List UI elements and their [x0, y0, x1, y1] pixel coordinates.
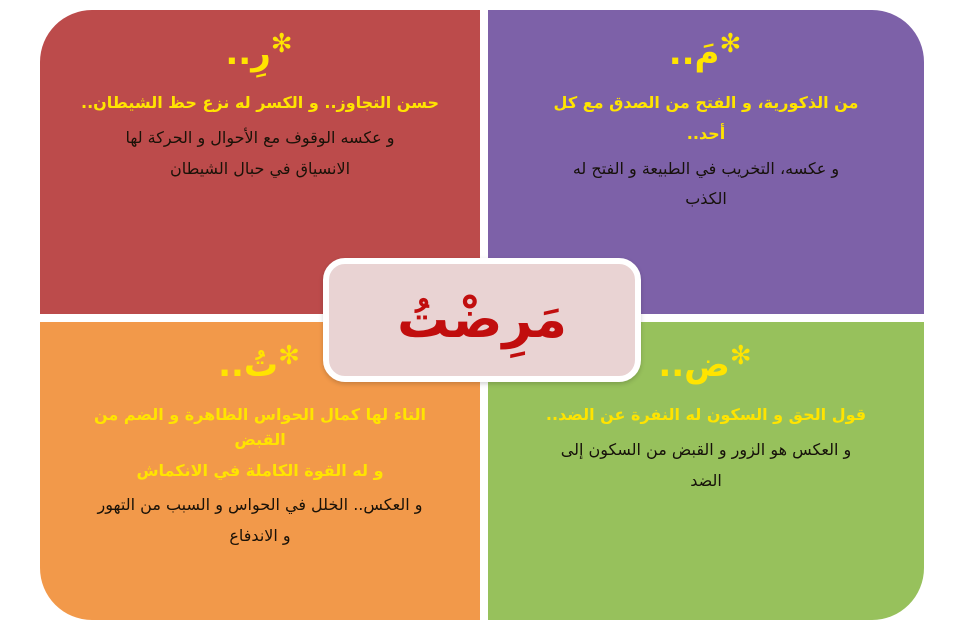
text-line: قول الحق و السكون له النفرة عن الضد..	[514, 403, 898, 428]
quadrant-dad-note: و العكس هو الزور و القبض من السكون إلى ا…	[514, 438, 898, 494]
text-line: و الاندفاع	[66, 524, 454, 549]
quadrant-ra-highlight: حسن التجاوز.. و الكسر له نزع حظ الشيطان.…	[66, 91, 454, 116]
text-line: أحد..	[514, 122, 898, 147]
text-line: حسن التجاوز.. و الكسر له نزع حظ الشيطان.…	[66, 91, 454, 116]
quadrant-dad-letter: ض..	[658, 345, 730, 385]
text-line: و عكسه، التخريب في الطبيعة و الفتح له	[514, 157, 898, 182]
quadrant-ta-letter: تُ..	[218, 345, 278, 385]
quadrant-ra-heading: ✻رِ..	[66, 34, 454, 73]
quadrant-meem-highlight: من الذكورية، و الفتح من الصدق مع كل أحد.…	[514, 91, 898, 147]
quadrant-dad-highlight: قول الحق و السكون له النفرة عن الضد..	[514, 403, 898, 428]
centre-card[interactable]: مَرِضْتُ	[323, 258, 641, 382]
text-line: الكذب	[514, 187, 898, 212]
quadrant-meem-letter: مَ..	[669, 33, 720, 73]
quadrant-meem-heading: ✻مَ..	[514, 34, 898, 73]
quadrant-diagram: ✻رِ.. حسن التجاوز.. و الكسر له نزع حظ ال…	[0, 0, 964, 626]
quadrant-meem-note: و عكسه، التخريب في الطبيعة و الفتح له ال…	[514, 157, 898, 213]
asterisk-icon: ✻	[719, 29, 741, 59]
asterisk-icon: ✻	[730, 341, 752, 371]
text-line: و العكس هو الزور و القبض من السكون إلى	[514, 438, 898, 463]
quadrant-ra-letter: رِ..	[225, 33, 270, 73]
asterisk-icon: ✻	[278, 341, 300, 371]
quadrant-ta-highlight: التاء لها كمال الحواس الظاهرة و الضم من …	[66, 403, 454, 483]
text-line: و عكسه الوقوف مع الأحوال و الحركة لها	[66, 126, 454, 151]
text-line: التاء لها كمال الحواس الظاهرة و الضم من …	[66, 403, 454, 453]
text-line: و العكس.. الخلل في الحواس و السبب من الت…	[66, 493, 454, 518]
text-line: الضد	[514, 469, 898, 494]
quadrant-ta-note: و العكس.. الخلل في الحواس و السبب من الت…	[66, 493, 454, 549]
text-line: من الذكورية، و الفتح من الصدق مع كل	[514, 91, 898, 116]
centre-word: مَرِضْتُ	[397, 294, 567, 346]
text-line: الانسياق في حبال الشيطان	[66, 157, 454, 182]
quadrant-ra-note: و عكسه الوقوف مع الأحوال و الحركة لها ال…	[66, 126, 454, 182]
asterisk-icon: ✻	[271, 29, 293, 59]
text-line: و له القوة الكاملة في الانكماش	[66, 459, 454, 484]
